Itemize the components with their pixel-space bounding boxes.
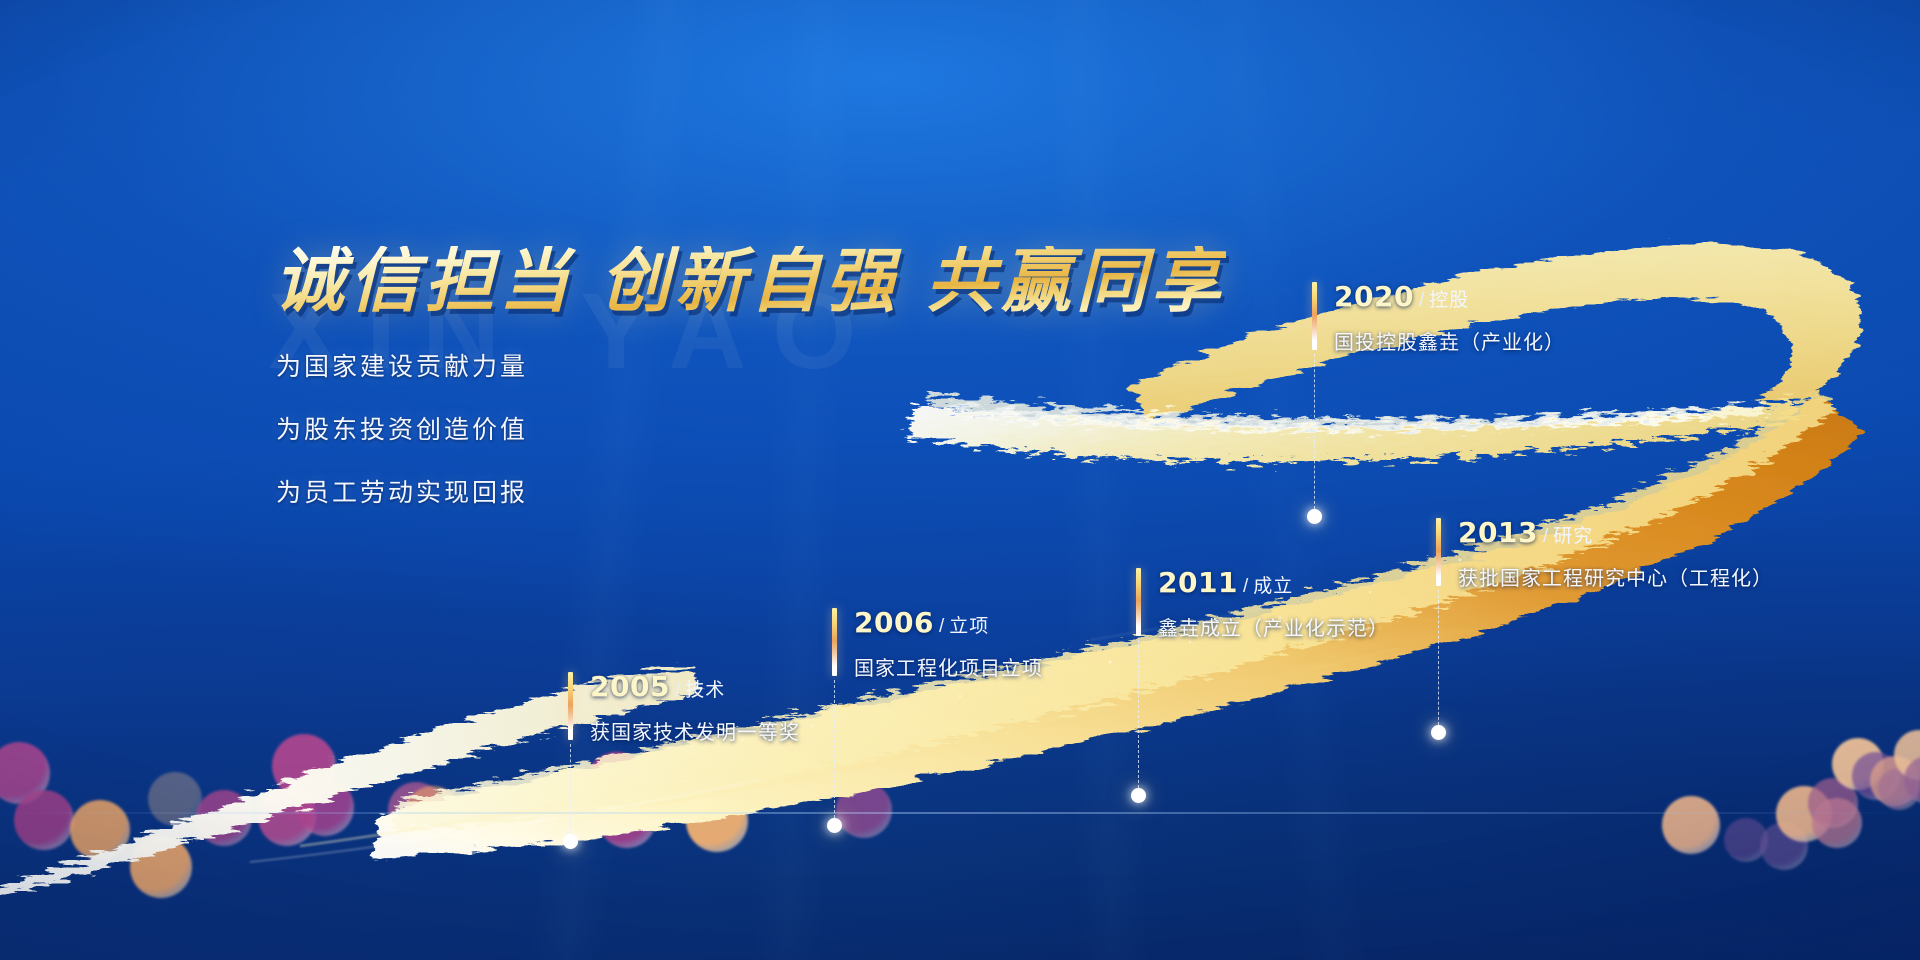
subtitle-line: 为员工劳动实现回报: [276, 481, 528, 506]
banner-stage: XIN YAO 诚信担当创新自强共赢同享 为国家建设贡献力量 为股东投资创造价值…: [0, 0, 1920, 960]
milestone-text-block: 2006/立项国家工程化项目立项: [854, 606, 1043, 681]
bokeh-circle-right: [1662, 796, 1720, 854]
milestone-connector-line: [1138, 640, 1139, 788]
bokeh-circle-left: [388, 782, 444, 838]
bokeh-circle-right: [1870, 756, 1920, 806]
subtitle-line: 为股东投资创造价值: [276, 418, 528, 443]
bokeh-circle-left: [760, 748, 816, 804]
milestone-accent-bar: [568, 672, 573, 740]
bokeh-circle-left: [130, 836, 192, 898]
milestone-separator: /: [675, 680, 680, 701]
bokeh-circle-left: [452, 792, 508, 848]
bokeh-circle-left: [0, 742, 50, 804]
bokeh-circle-left: [70, 800, 130, 860]
milestone-connector-line: [1314, 354, 1315, 509]
horizon-line: [0, 812, 1920, 814]
bokeh-circle-right: [1812, 798, 1862, 848]
headline-part-3: 共赢同享: [926, 239, 1226, 322]
headline-part-1: 诚信担当: [274, 239, 574, 322]
milestone-year: 2013: [1458, 516, 1538, 549]
bokeh-circle-left: [196, 790, 252, 846]
milestone-description: 鑫垚成立（产业化示范）: [1158, 612, 1389, 641]
milestone-separator: /: [1543, 526, 1548, 547]
bokeh-circle-left: [686, 790, 748, 852]
milestone-accent-bar: [832, 608, 837, 676]
bokeh-circle-right: [1852, 752, 1900, 800]
milestone-connector-line: [834, 680, 835, 818]
bokeh-circle-right: [1878, 768, 1920, 810]
bokeh-circle-left: [258, 788, 316, 846]
bokeh-circle-right: [1904, 756, 1920, 804]
milestone-category: 研究: [1553, 526, 1593, 547]
milestone-node-dot[interactable]: [563, 834, 578, 849]
milestone-year: 2011: [1158, 566, 1238, 599]
milestone-category: 成立: [1253, 576, 1293, 597]
milestone-node-dot[interactable]: [1131, 788, 1146, 803]
bokeh-circle-left: [272, 734, 336, 798]
milestone-description: 获批国家工程研究中心（工程化）: [1458, 562, 1773, 591]
milestone-accent-bar: [1136, 568, 1141, 636]
milestone-separator: /: [1243, 576, 1248, 597]
bokeh-circle-right: [1832, 738, 1884, 790]
bokeh-circle-left: [586, 752, 648, 814]
bokeh-circle-left: [608, 772, 658, 822]
milestone-text-block: 2013/研究获批国家工程研究中心（工程化）: [1458, 516, 1773, 591]
milestone-year: 2020: [1334, 280, 1414, 313]
headline-part-2: 创新自强: [600, 239, 900, 322]
bokeh-circle-left: [836, 782, 892, 838]
milestone-node-dot[interactable]: [1431, 725, 1446, 740]
milestone-connector-line: [570, 744, 571, 834]
milestone-text-block: 2005/技术获国家技术发明一等奖: [590, 670, 800, 745]
bokeh-circle-left: [404, 786, 462, 844]
bokeh-circle-right: [1724, 818, 1768, 862]
milestone-category: 技术: [685, 680, 725, 701]
milestone-category: 控股: [1429, 290, 1469, 311]
milestone-connector-line: [1438, 590, 1439, 725]
milestone-year: 2006: [854, 606, 934, 639]
bokeh-circle-left: [14, 790, 74, 850]
subtitle-list: 为国家建设贡献力量 为股东投资创造价值 为员工劳动实现回报: [276, 355, 528, 506]
bokeh-circle-right: [1776, 786, 1832, 842]
subtitle-line: 为国家建设贡献力量: [276, 355, 528, 380]
bokeh-circle-right: [1760, 822, 1808, 870]
milestone-accent-bar: [1436, 518, 1441, 586]
bokeh-circle-right: [1894, 730, 1920, 780]
milestone-description: 获国家技术发明一等奖: [590, 716, 800, 745]
milestone-separator: /: [1419, 290, 1424, 311]
milestone-description: 国家工程化项目立项: [854, 652, 1043, 681]
milestone-category: 立项: [949, 616, 989, 637]
bokeh-circle-left: [148, 772, 202, 826]
milestone-separator: /: [939, 616, 944, 637]
bokeh-circle-left: [296, 778, 354, 836]
milestone-accent-bar: [1312, 282, 1317, 350]
bokeh-circle-right: [1808, 778, 1858, 828]
milestone-text-block: 2011/成立鑫垚成立（产业化示范）: [1158, 566, 1389, 641]
milestone-description: 国投控股鑫垚（产业化）: [1334, 326, 1565, 355]
milestone-node-dot[interactable]: [1307, 509, 1322, 524]
milestone-year: 2005: [590, 670, 670, 703]
bokeh-circle-left: [598, 790, 656, 848]
page-title: 诚信担当创新自强共赢同享: [274, 246, 1226, 316]
milestone-node-dot[interactable]: [827, 818, 842, 833]
milestone-text-block: 2020/控股国投控股鑫垚（产业化）: [1334, 280, 1565, 355]
